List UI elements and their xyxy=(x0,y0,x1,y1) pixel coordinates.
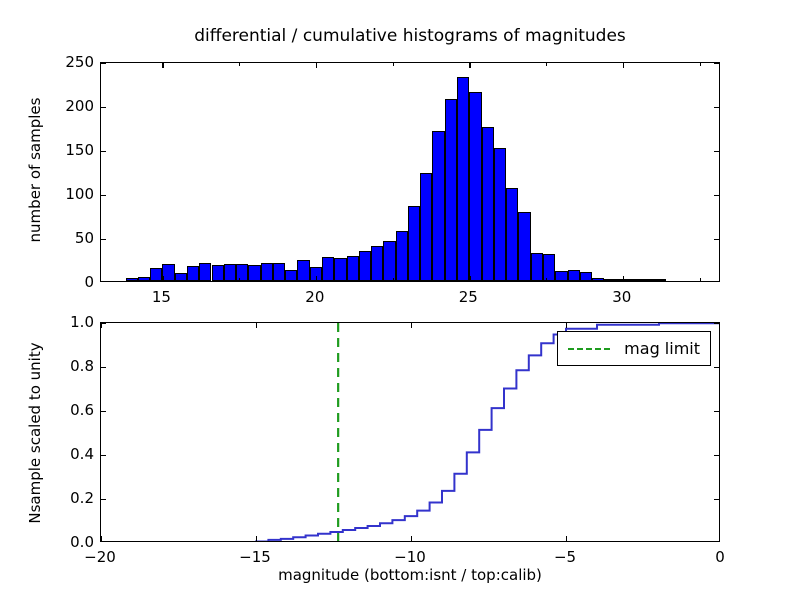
histogram-bar xyxy=(138,277,150,281)
histogram-bar xyxy=(506,188,518,281)
x-tick-mark xyxy=(411,536,412,541)
histogram-bar xyxy=(322,257,334,281)
histogram-bar xyxy=(580,272,592,281)
y-tick-mark xyxy=(714,323,719,324)
x-minor-tick-mark xyxy=(700,278,701,281)
y-tick-mark xyxy=(714,195,719,196)
matplotlib-figure: differential / cumulative histograms of … xyxy=(0,0,800,600)
histogram-bar xyxy=(445,99,457,281)
legend-label-mag-limit: mag limit xyxy=(624,339,700,358)
x-tick-label: 20 xyxy=(305,288,324,306)
x-tick-label: −5 xyxy=(554,548,576,566)
cumulative-histogram-axes: mag limit xyxy=(100,322,720,542)
x-tick-label: −15 xyxy=(239,548,271,566)
y-tick-label: 0.0 xyxy=(34,533,94,551)
x-tick-label: 0 xyxy=(715,548,725,566)
y-tick-mark xyxy=(714,411,719,412)
histogram-bar xyxy=(150,268,162,281)
histogram-bar xyxy=(261,263,273,281)
x-minor-tick-mark xyxy=(239,63,240,66)
x-tick-mark xyxy=(623,63,624,68)
y-tick-mark xyxy=(714,455,719,456)
y-tick-label: 0.6 xyxy=(34,401,94,419)
histogram-bar xyxy=(273,263,285,281)
y-tick-mark xyxy=(714,499,719,500)
histogram-bar xyxy=(383,241,395,281)
x-tick-mark xyxy=(411,323,412,328)
y-tick-label: 0.8 xyxy=(34,357,94,375)
histogram-bar xyxy=(420,173,432,281)
histogram-bar xyxy=(555,271,567,281)
x-minor-tick-mark xyxy=(393,63,394,66)
histogram-bar xyxy=(297,260,309,281)
histogram-bar xyxy=(592,278,604,281)
x-tick-mark xyxy=(256,323,257,328)
histogram-bar xyxy=(469,92,481,281)
y-tick-label: 150 xyxy=(34,141,94,159)
y-tick-mark xyxy=(101,323,106,324)
x-tick-mark xyxy=(566,323,567,328)
histogram-bar xyxy=(347,256,359,281)
top-panel-ylabel: number of samples xyxy=(26,60,44,280)
legend-dashed-line-icon xyxy=(568,348,610,350)
histogram-bar xyxy=(248,265,260,281)
y-tick-mark xyxy=(101,107,106,108)
histogram-bar xyxy=(175,273,187,281)
histogram-bar xyxy=(494,148,506,281)
x-tick-mark xyxy=(316,63,317,68)
histogram-bar xyxy=(629,279,641,281)
y-tick-label: 0 xyxy=(34,273,94,291)
x-tick-mark xyxy=(623,276,624,281)
histogram-bar xyxy=(408,206,420,281)
x-tick-mark xyxy=(162,63,163,68)
histogram-bar xyxy=(457,77,469,281)
x-tick-label: 15 xyxy=(152,288,171,306)
x-minor-tick-mark xyxy=(393,278,394,281)
y-tick-label: 100 xyxy=(34,185,94,203)
x-tick-mark xyxy=(566,536,567,541)
histogram-bars-layer xyxy=(101,63,719,281)
y-tick-label: 250 xyxy=(34,53,94,71)
histogram-bar xyxy=(224,264,236,281)
y-tick-label: 0.2 xyxy=(34,489,94,507)
y-tick-mark xyxy=(101,499,106,500)
histogram-bar xyxy=(518,212,530,281)
x-tick-mark xyxy=(101,536,102,541)
histogram-bar xyxy=(126,278,138,281)
x-tick-mark xyxy=(469,63,470,68)
differential-histogram-axes xyxy=(100,62,720,282)
histogram-bar xyxy=(371,246,383,281)
y-tick-mark xyxy=(714,63,719,64)
y-tick-mark xyxy=(101,455,106,456)
x-tick-label: 25 xyxy=(459,288,478,306)
x-tick-label: −10 xyxy=(394,548,426,566)
x-tick-mark xyxy=(256,536,257,541)
histogram-bar xyxy=(212,265,224,281)
y-tick-mark xyxy=(714,151,719,152)
x-tick-label: 30 xyxy=(612,288,631,306)
y-tick-mark xyxy=(101,195,106,196)
x-minor-tick-mark xyxy=(546,63,547,66)
y-tick-mark xyxy=(714,367,719,368)
y-tick-label: 0.4 xyxy=(34,445,94,463)
x-tick-mark xyxy=(316,276,317,281)
histogram-bar xyxy=(162,264,174,281)
y-tick-mark xyxy=(101,151,106,152)
bottom-panel-ylabel: Nsample scaled to unity xyxy=(26,313,44,553)
histogram-bar xyxy=(543,254,555,281)
y-tick-mark xyxy=(101,63,106,64)
histogram-bar xyxy=(396,231,408,281)
histogram-bar xyxy=(482,127,494,281)
histogram-bar xyxy=(432,131,444,281)
histogram-bar xyxy=(334,258,346,281)
figure-title: differential / cumulative histograms of … xyxy=(100,26,720,46)
x-minor-tick-mark xyxy=(700,63,701,66)
histogram-bar xyxy=(641,279,653,281)
histogram-bar xyxy=(285,270,297,281)
y-tick-mark xyxy=(101,411,106,412)
y-tick-label: 50 xyxy=(34,229,94,247)
x-tick-mark xyxy=(469,276,470,281)
y-tick-mark xyxy=(101,239,106,240)
histogram-bar xyxy=(531,253,543,281)
y-tick-mark xyxy=(714,239,719,240)
histogram-bar xyxy=(568,270,580,281)
y-tick-label: 200 xyxy=(34,97,94,115)
y-tick-label: 1.0 xyxy=(34,313,94,331)
histogram-bar xyxy=(653,279,665,281)
histogram-bar xyxy=(236,264,248,281)
histogram-bar xyxy=(199,263,211,281)
bottom-panel-xlabel: magnitude (bottom:isnt / top:calib) xyxy=(100,566,720,584)
histogram-bar xyxy=(359,251,371,281)
x-tick-mark xyxy=(162,276,163,281)
histogram-bar xyxy=(604,279,616,281)
y-tick-mark xyxy=(101,367,106,368)
x-minor-tick-mark xyxy=(239,278,240,281)
x-minor-tick-mark xyxy=(546,278,547,281)
y-tick-mark xyxy=(714,107,719,108)
legend: mag limit xyxy=(557,331,711,366)
histogram-bar xyxy=(187,266,199,281)
